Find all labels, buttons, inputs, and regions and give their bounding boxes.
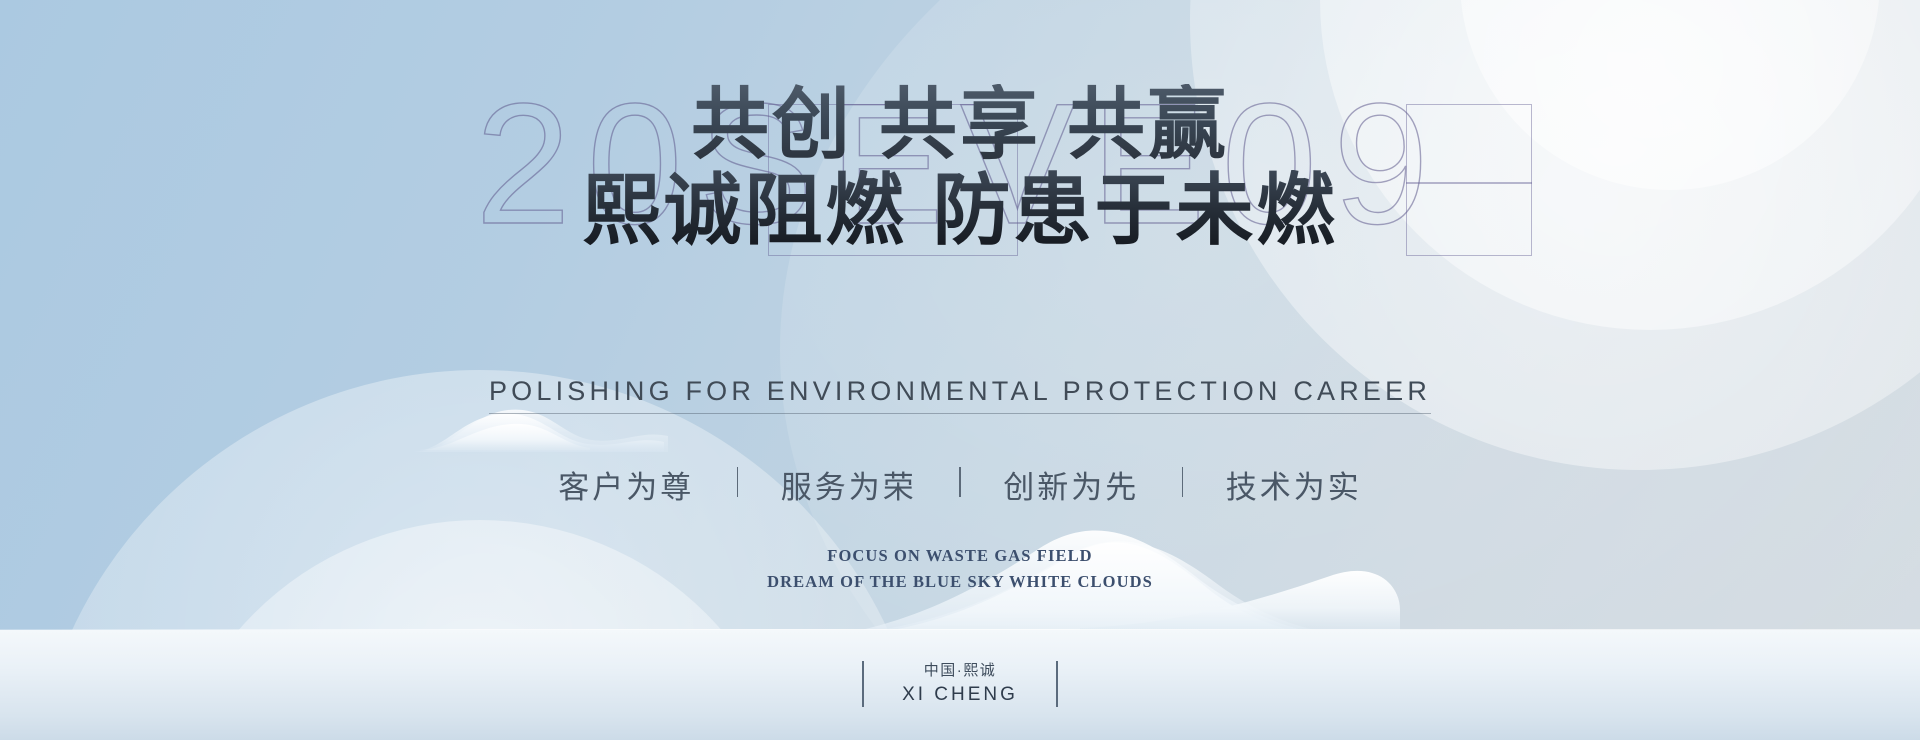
micro-english-line-1: FOCUS ON WASTE GAS FIELD [0, 543, 1920, 569]
cloud-left-front [418, 424, 590, 450]
headline-line1-part-a: 共创 [691, 81, 853, 168]
logo-english-name: XI CHENG [902, 682, 1018, 708]
headline-block: 共创共享共赢 熙诚阻燃防患于未燃 [0, 84, 1920, 252]
english-tagline-text: POLISHING FOR ENVIRONMENTAL PROTECTION C… [489, 376, 1431, 414]
values-row: 客户为尊 服务为荣 创新为先 技术为实 [0, 462, 1920, 507]
logo-rule-right [1056, 661, 1058, 707]
headline-line2-part-a: 熙诚阻燃 [582, 167, 906, 254]
logo-lockup: 中国·熙诚 XI CHENG [0, 660, 1920, 708]
value-item-4: 技术为实 [1226, 462, 1362, 507]
cloud-left-mid [410, 414, 664, 452]
headline-line-1: 共创共享共赢 [0, 84, 1920, 166]
micro-english-block: FOCUS ON WASTE GAS FIELD DREAM OF THE BL… [0, 543, 1920, 594]
value-separator-2 [959, 467, 961, 497]
value-item-2: 服务为荣 [781, 462, 917, 507]
headline-line1-part-b: 共享 [879, 81, 1041, 168]
value-separator-3 [1182, 467, 1184, 497]
hero-banner: 20SEVE09 共创共享共赢 熙诚阻燃防患于未燃 [0, 0, 1920, 740]
micro-english-line-2: DREAM OF THE BLUE SKY WHITE CLOUDS [0, 569, 1920, 595]
headline-line2-part-b: 防患于未燃 [933, 167, 1338, 254]
headline-line-2: 熙诚阻燃防患于未燃 [0, 170, 1920, 252]
cloud-left-back [415, 410, 668, 452]
value-item-3: 创新为先 [1003, 462, 1139, 507]
logo-rule-left [862, 661, 864, 707]
value-separator-1 [737, 467, 739, 497]
logo-text-stack: 中国·熙诚 XI CHENG [902, 660, 1018, 708]
value-item-1: 客户为尊 [558, 462, 694, 507]
logo-chinese-name: 中国·熙诚 [902, 660, 1018, 683]
english-tagline: POLISHING FOR ENVIRONMENTAL PROTECTION C… [0, 376, 1920, 414]
headline-line1-part-c: 共赢 [1067, 81, 1229, 168]
